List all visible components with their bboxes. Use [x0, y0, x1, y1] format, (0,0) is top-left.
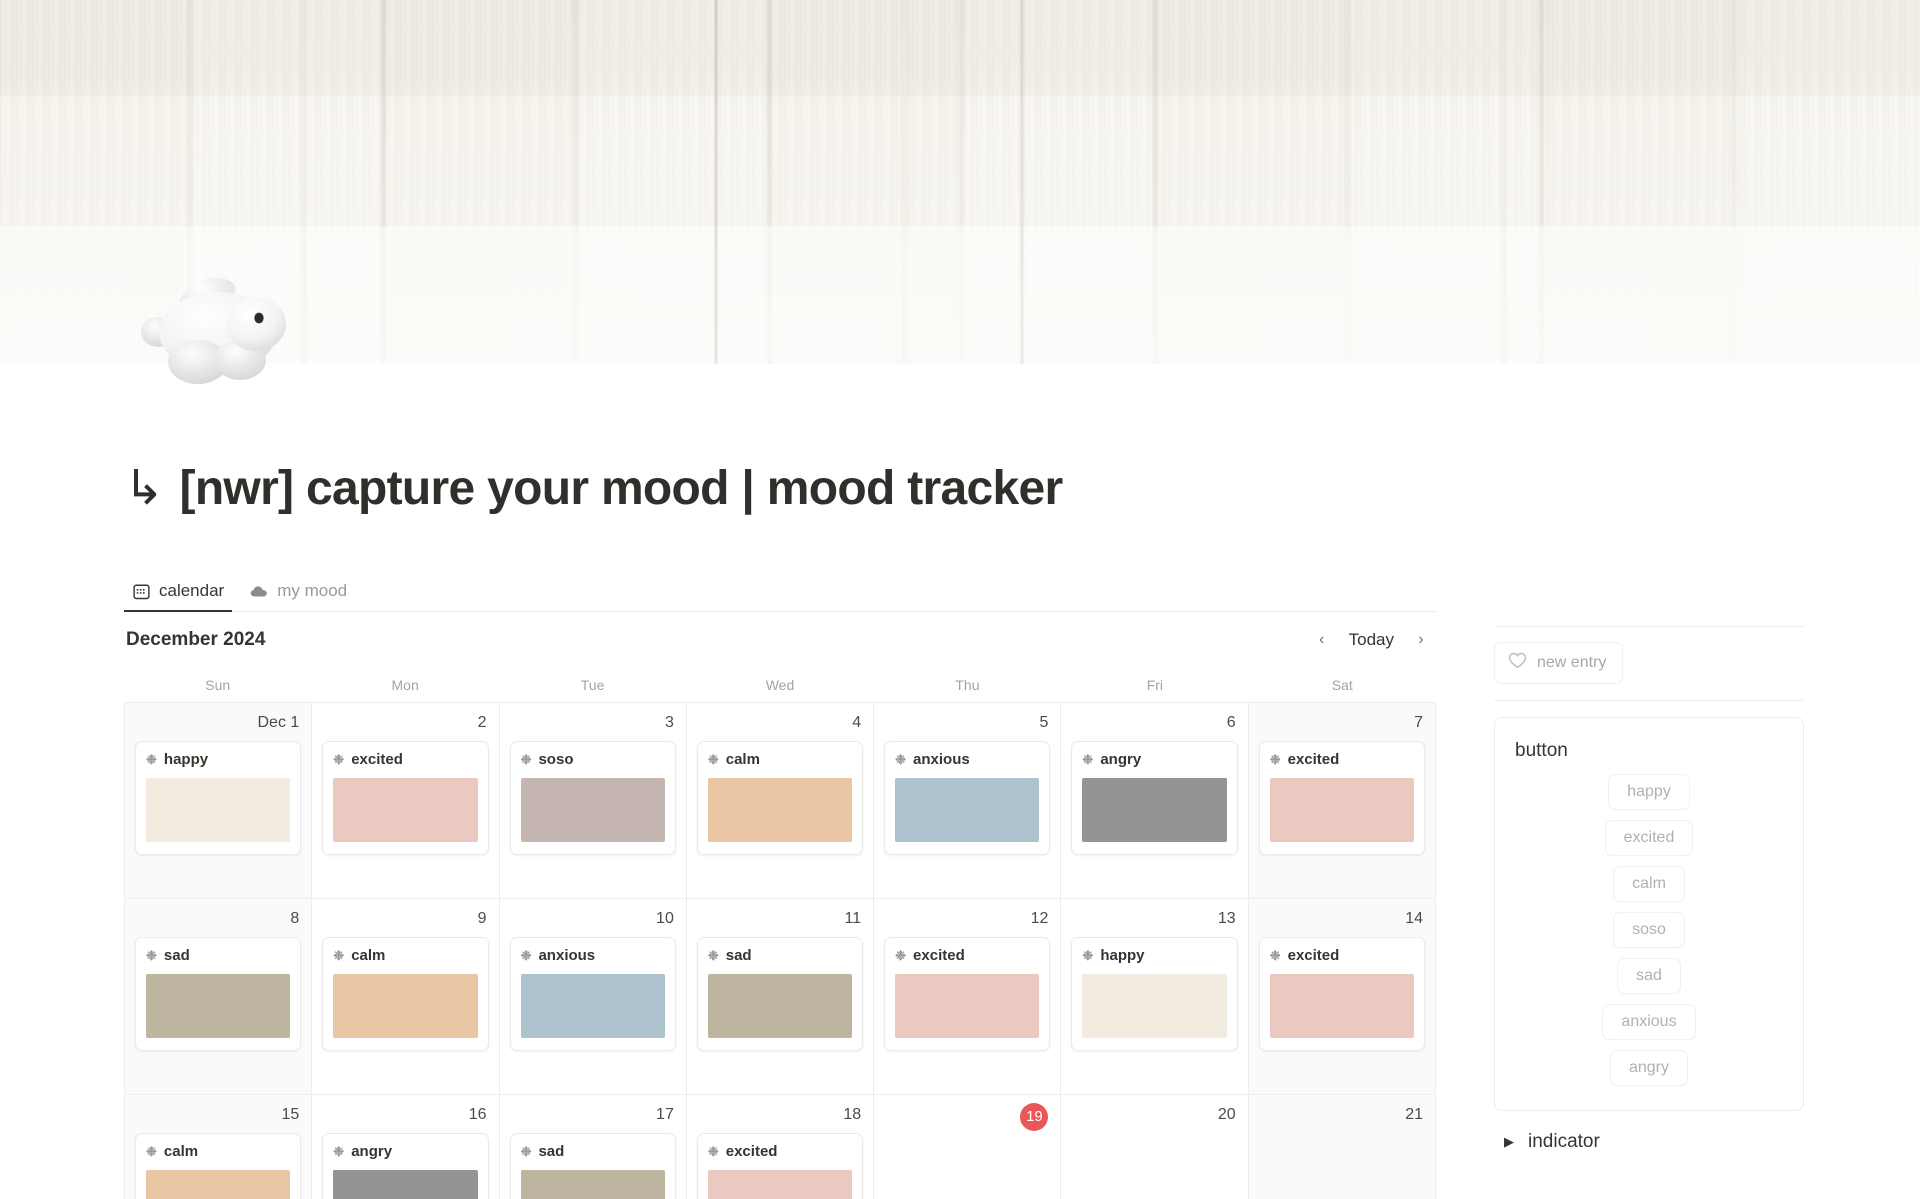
mood-color-swatch: [1082, 778, 1226, 842]
page-title: ↳[nwr] capture your mood | mood tracker: [124, 460, 1920, 516]
mood-entry-label: happy: [164, 751, 208, 768]
mood-entry-title: ❉calm: [708, 751, 852, 768]
mood-entry-card[interactable]: ❉excited: [1259, 937, 1425, 1051]
mood-entry-title: ❉angry: [1082, 751, 1226, 768]
day-number: 8: [135, 907, 301, 931]
asterisk-icon: ❉: [333, 753, 344, 766]
mood-color-swatch: [895, 974, 1039, 1038]
mood-entry-title: ❉sad: [146, 947, 290, 964]
calendar-day-cell[interactable]: 8❉sad: [125, 899, 312, 1095]
day-number: 2: [322, 711, 488, 735]
asterisk-icon: ❉: [521, 753, 532, 766]
mood-entry-label: excited: [726, 1143, 778, 1160]
weekday-header: Sun Mon Tue Wed Thu Fri Sat: [124, 668, 1436, 702]
mood-button-angry[interactable]: angry: [1610, 1050, 1688, 1086]
day-number: 7: [1259, 711, 1425, 735]
mood-entry-label: excited: [913, 947, 965, 964]
bunny-icon[interactable]: [136, 270, 296, 406]
mood-color-swatch: [1270, 778, 1414, 842]
day-number: 4: [697, 711, 863, 735]
day-number: Dec 1: [135, 711, 301, 735]
weekday-fri: Fri: [1061, 677, 1248, 693]
mood-color-swatch: [521, 974, 665, 1038]
day-number: 16: [322, 1103, 488, 1127]
mood-entry-title: ❉excited: [1270, 947, 1414, 964]
calendar-nav: ‹ Today ›: [1309, 627, 1434, 653]
mood-entry-card[interactable]: ❉happy: [1071, 937, 1237, 1051]
asterisk-icon: ❉: [895, 753, 906, 766]
calendar-month-label: December 2024: [126, 629, 265, 651]
mood-color-swatch: [333, 778, 477, 842]
calendar-grid: Dec 1❉happy2❉excited3❉soso4❉calm5❉anxiou…: [124, 702, 1436, 1199]
mood-color-swatch: [521, 778, 665, 842]
mood-color-swatch: [708, 974, 852, 1038]
mood-entry-label: sad: [164, 947, 190, 964]
mood-color-swatch: [708, 1170, 852, 1199]
calendar-icon: [132, 582, 150, 600]
asterisk-icon: ❉: [1270, 949, 1281, 962]
asterisk-icon: ❉: [708, 753, 719, 766]
mood-entry-title: ❉anxious: [895, 751, 1039, 768]
calendar-day-cell[interactable]: 10❉anxious: [500, 899, 687, 1095]
asterisk-icon: ❉: [146, 753, 157, 766]
calendar-day-cell[interactable]: 12❉excited: [874, 899, 1061, 1095]
calendar-header: December 2024 ‹ Today ›: [124, 612, 1436, 668]
weekday-mon: Mon: [311, 677, 498, 693]
tab-my-mood-label: my mood: [277, 581, 347, 601]
mood-entry-label: happy: [1100, 947, 1144, 964]
mood-entry-card[interactable]: ❉calm: [697, 741, 863, 855]
mood-color-swatch: [708, 778, 852, 842]
mood-entry-title: ❉anxious: [521, 947, 665, 964]
mood-button-soso[interactable]: soso: [1613, 912, 1685, 948]
day-number: 11: [697, 907, 863, 931]
day-number: 17: [510, 1103, 676, 1127]
calendar-day-cell[interactable]: Dec 1❉happy: [125, 703, 312, 899]
new-entry-button[interactable]: new entry: [1494, 642, 1623, 684]
mood-entry-title: ❉excited: [708, 1143, 852, 1160]
day-number: 14: [1259, 907, 1425, 931]
day-number: 5: [884, 711, 1050, 735]
calendar-day-cell[interactable]: 7❉excited: [1249, 703, 1436, 899]
calendar-day-cell[interactable]: 21: [1249, 1095, 1436, 1199]
calendar-day-cell[interactable]: 11❉sad: [687, 899, 874, 1095]
mood-entry-title: ❉soso: [521, 751, 665, 768]
mood-entry-card[interactable]: ❉calm: [322, 937, 488, 1051]
mood-color-swatch: [146, 778, 290, 842]
main-split: December 2024 ‹ Today › Sun Mon Tue Wed …: [124, 612, 1804, 1199]
calendar-day-cell[interactable]: 5❉anxious: [874, 703, 1061, 899]
asterisk-icon: ❉: [146, 949, 157, 962]
mood-button-excited[interactable]: excited: [1605, 820, 1694, 856]
button-card: button happyexcitedcalmsososadanxiousang…: [1494, 717, 1804, 1111]
mood-entry-title: ❉excited: [895, 947, 1039, 964]
mood-button-sad[interactable]: sad: [1617, 958, 1681, 994]
indicator-label: indicator: [1528, 1131, 1600, 1153]
mood-entry-title: ❉excited: [1270, 751, 1414, 768]
day-number: 19: [884, 1103, 1050, 1127]
mood-entry-label: excited: [351, 751, 403, 768]
mood-color-swatch: [146, 974, 290, 1038]
calendar-day-cell[interactable]: 16❉angry: [312, 1095, 499, 1199]
asterisk-icon: ❉: [1082, 949, 1093, 962]
page-content: ↳[nwr] capture your mood | mood tracker …: [0, 460, 1920, 1199]
calendar-day-cell[interactable]: 4❉calm: [687, 703, 874, 899]
calendar-view: December 2024 ‹ Today › Sun Mon Tue Wed …: [124, 612, 1436, 1199]
weekday-thu: Thu: [874, 677, 1061, 693]
mood-color-swatch: [1082, 974, 1226, 1038]
mood-entry-card[interactable]: ❉happy: [135, 741, 301, 855]
sidebar-divider-mid: [1494, 700, 1804, 701]
asterisk-icon: ❉: [708, 1145, 719, 1158]
mood-entry-label: angry: [351, 1143, 392, 1160]
sidebar-divider-top: [1494, 626, 1804, 627]
asterisk-icon: ❉: [521, 1145, 532, 1158]
mood-entry-card[interactable]: ❉anxious: [884, 741, 1050, 855]
mood-entry-card[interactable]: ❉soso: [510, 741, 676, 855]
mood-button-list: happyexcitedcalmsososadanxiousangry: [1515, 774, 1783, 1086]
next-month-button[interactable]: ›: [1408, 627, 1434, 653]
calendar-day-cell[interactable]: 18❉excited: [687, 1095, 874, 1199]
mood-entry-title: ❉excited: [333, 751, 477, 768]
asterisk-icon: ❉: [1270, 753, 1281, 766]
mood-entry-label: sad: [538, 1143, 564, 1160]
calendar-day-cell[interactable]: 17❉sad: [500, 1095, 687, 1199]
mood-entry-label: soso: [538, 751, 573, 768]
weekday-sun: Sun: [124, 677, 311, 693]
button-card-title: button: [1515, 740, 1783, 762]
today-button[interactable]: Today: [1339, 628, 1404, 652]
mood-entry-label: excited: [1288, 947, 1340, 964]
day-number: 9: [322, 907, 488, 931]
day-number: 15: [135, 1103, 301, 1127]
mood-entry-title: ❉sad: [521, 1143, 665, 1160]
mood-color-swatch: [333, 974, 477, 1038]
asterisk-icon: ❉: [333, 949, 344, 962]
mood-entry-label: calm: [164, 1143, 198, 1160]
calendar-day-cell[interactable]: 9❉calm: [312, 899, 499, 1095]
prev-month-button[interactable]: ‹: [1309, 627, 1335, 653]
calendar-day-cell[interactable]: 20: [1061, 1095, 1248, 1199]
mood-color-swatch: [895, 778, 1039, 842]
asterisk-icon: ❉: [146, 1145, 157, 1158]
sidebar-panel: new entry button happyexcitedcalmsososad…: [1494, 612, 1804, 1199]
tab-my-mood[interactable]: my mood: [242, 581, 359, 611]
asterisk-icon: ❉: [708, 949, 719, 962]
mood-entry-card[interactable]: ❉angry: [322, 1133, 488, 1199]
asterisk-icon: ❉: [333, 1145, 344, 1158]
mood-entry-card[interactable]: ❉sad: [697, 937, 863, 1051]
calendar-day-cell[interactable]: 15❉calm: [125, 1095, 312, 1199]
mood-entry-card[interactable]: ❉excited: [1259, 741, 1425, 855]
asterisk-icon: ❉: [521, 949, 532, 962]
day-number: 20: [1071, 1103, 1237, 1127]
mood-entry-title: ❉calm: [333, 947, 477, 964]
chevron-right-icon: ▶: [1504, 1134, 1514, 1150]
mood-entry-label: calm: [726, 751, 760, 768]
day-number: 21: [1259, 1103, 1425, 1127]
calendar-day-cell[interactable]: 2❉excited: [312, 703, 499, 899]
mood-color-swatch: [146, 1170, 290, 1199]
asterisk-icon: ❉: [895, 949, 906, 962]
tab-calendar[interactable]: calendar: [124, 581, 236, 611]
mood-entry-title: ❉sad: [708, 947, 852, 964]
mood-button-happy[interactable]: happy: [1608, 774, 1690, 810]
mood-entry-label: angry: [1100, 751, 1141, 768]
mood-color-swatch: [333, 1170, 477, 1199]
calendar-day-cell[interactable]: 6❉angry: [1061, 703, 1248, 899]
weekday-tue: Tue: [499, 677, 686, 693]
day-number: 10: [510, 907, 676, 931]
mood-entry-title: ❉happy: [1082, 947, 1226, 964]
tab-calendar-label: calendar: [159, 581, 224, 601]
day-number: 12: [884, 907, 1050, 931]
mood-entry-card[interactable]: ❉angry: [1071, 741, 1237, 855]
mood-entry-title: ❉calm: [146, 1143, 290, 1160]
day-number: 18: [697, 1103, 863, 1127]
mood-entry-card[interactable]: ❉excited: [884, 937, 1050, 1051]
weekday-sat: Sat: [1249, 677, 1436, 693]
mood-entry-title: ❉angry: [333, 1143, 477, 1160]
mood-entry-card[interactable]: ❉anxious: [510, 937, 676, 1051]
mood-entry-title: ❉happy: [146, 751, 290, 768]
new-entry-label: new entry: [1537, 654, 1606, 672]
calendar-day-cell[interactable]: 14❉excited: [1249, 899, 1436, 1095]
calendar-day-cell[interactable]: 3❉soso: [500, 703, 687, 899]
mood-entry-label: anxious: [538, 947, 595, 964]
mood-entry-card[interactable]: ❉sad: [510, 1133, 676, 1199]
cloud-icon: [250, 582, 268, 600]
indicator-toggle[interactable]: ▶ indicator: [1494, 1131, 1804, 1153]
day-number: 3: [510, 711, 676, 735]
mood-entry-label: anxious: [913, 751, 970, 768]
mood-entry-label: excited: [1288, 751, 1340, 768]
mood-entry-card[interactable]: ❉calm: [135, 1133, 301, 1199]
mood-entry-label: sad: [726, 947, 752, 964]
mood-color-swatch: [521, 1170, 665, 1199]
calendar-day-cell[interactable]: 19: [874, 1095, 1061, 1199]
mood-entry-card[interactable]: ❉excited: [322, 741, 488, 855]
mood-button-calm[interactable]: calm: [1613, 866, 1685, 902]
page-title-text: [nwr] capture your mood | mood tracker: [180, 462, 1063, 515]
arrow-glyph: ↳: [124, 462, 164, 515]
mood-entry-card[interactable]: ❉sad: [135, 937, 301, 1051]
heart-icon: [1508, 652, 1527, 674]
day-number: 13: [1071, 907, 1237, 931]
mood-button-anxious[interactable]: anxious: [1602, 1004, 1695, 1040]
mood-entry-label: calm: [351, 947, 385, 964]
mood-entry-card[interactable]: ❉excited: [697, 1133, 863, 1199]
today-badge: 19: [1020, 1103, 1048, 1131]
day-number: 6: [1071, 711, 1237, 735]
weekday-wed: Wed: [686, 677, 873, 693]
mood-color-swatch: [1270, 974, 1414, 1038]
view-tabs: calendar my mood: [124, 566, 1436, 612]
calendar-day-cell[interactable]: 13❉happy: [1061, 899, 1248, 1095]
asterisk-icon: ❉: [1082, 753, 1093, 766]
